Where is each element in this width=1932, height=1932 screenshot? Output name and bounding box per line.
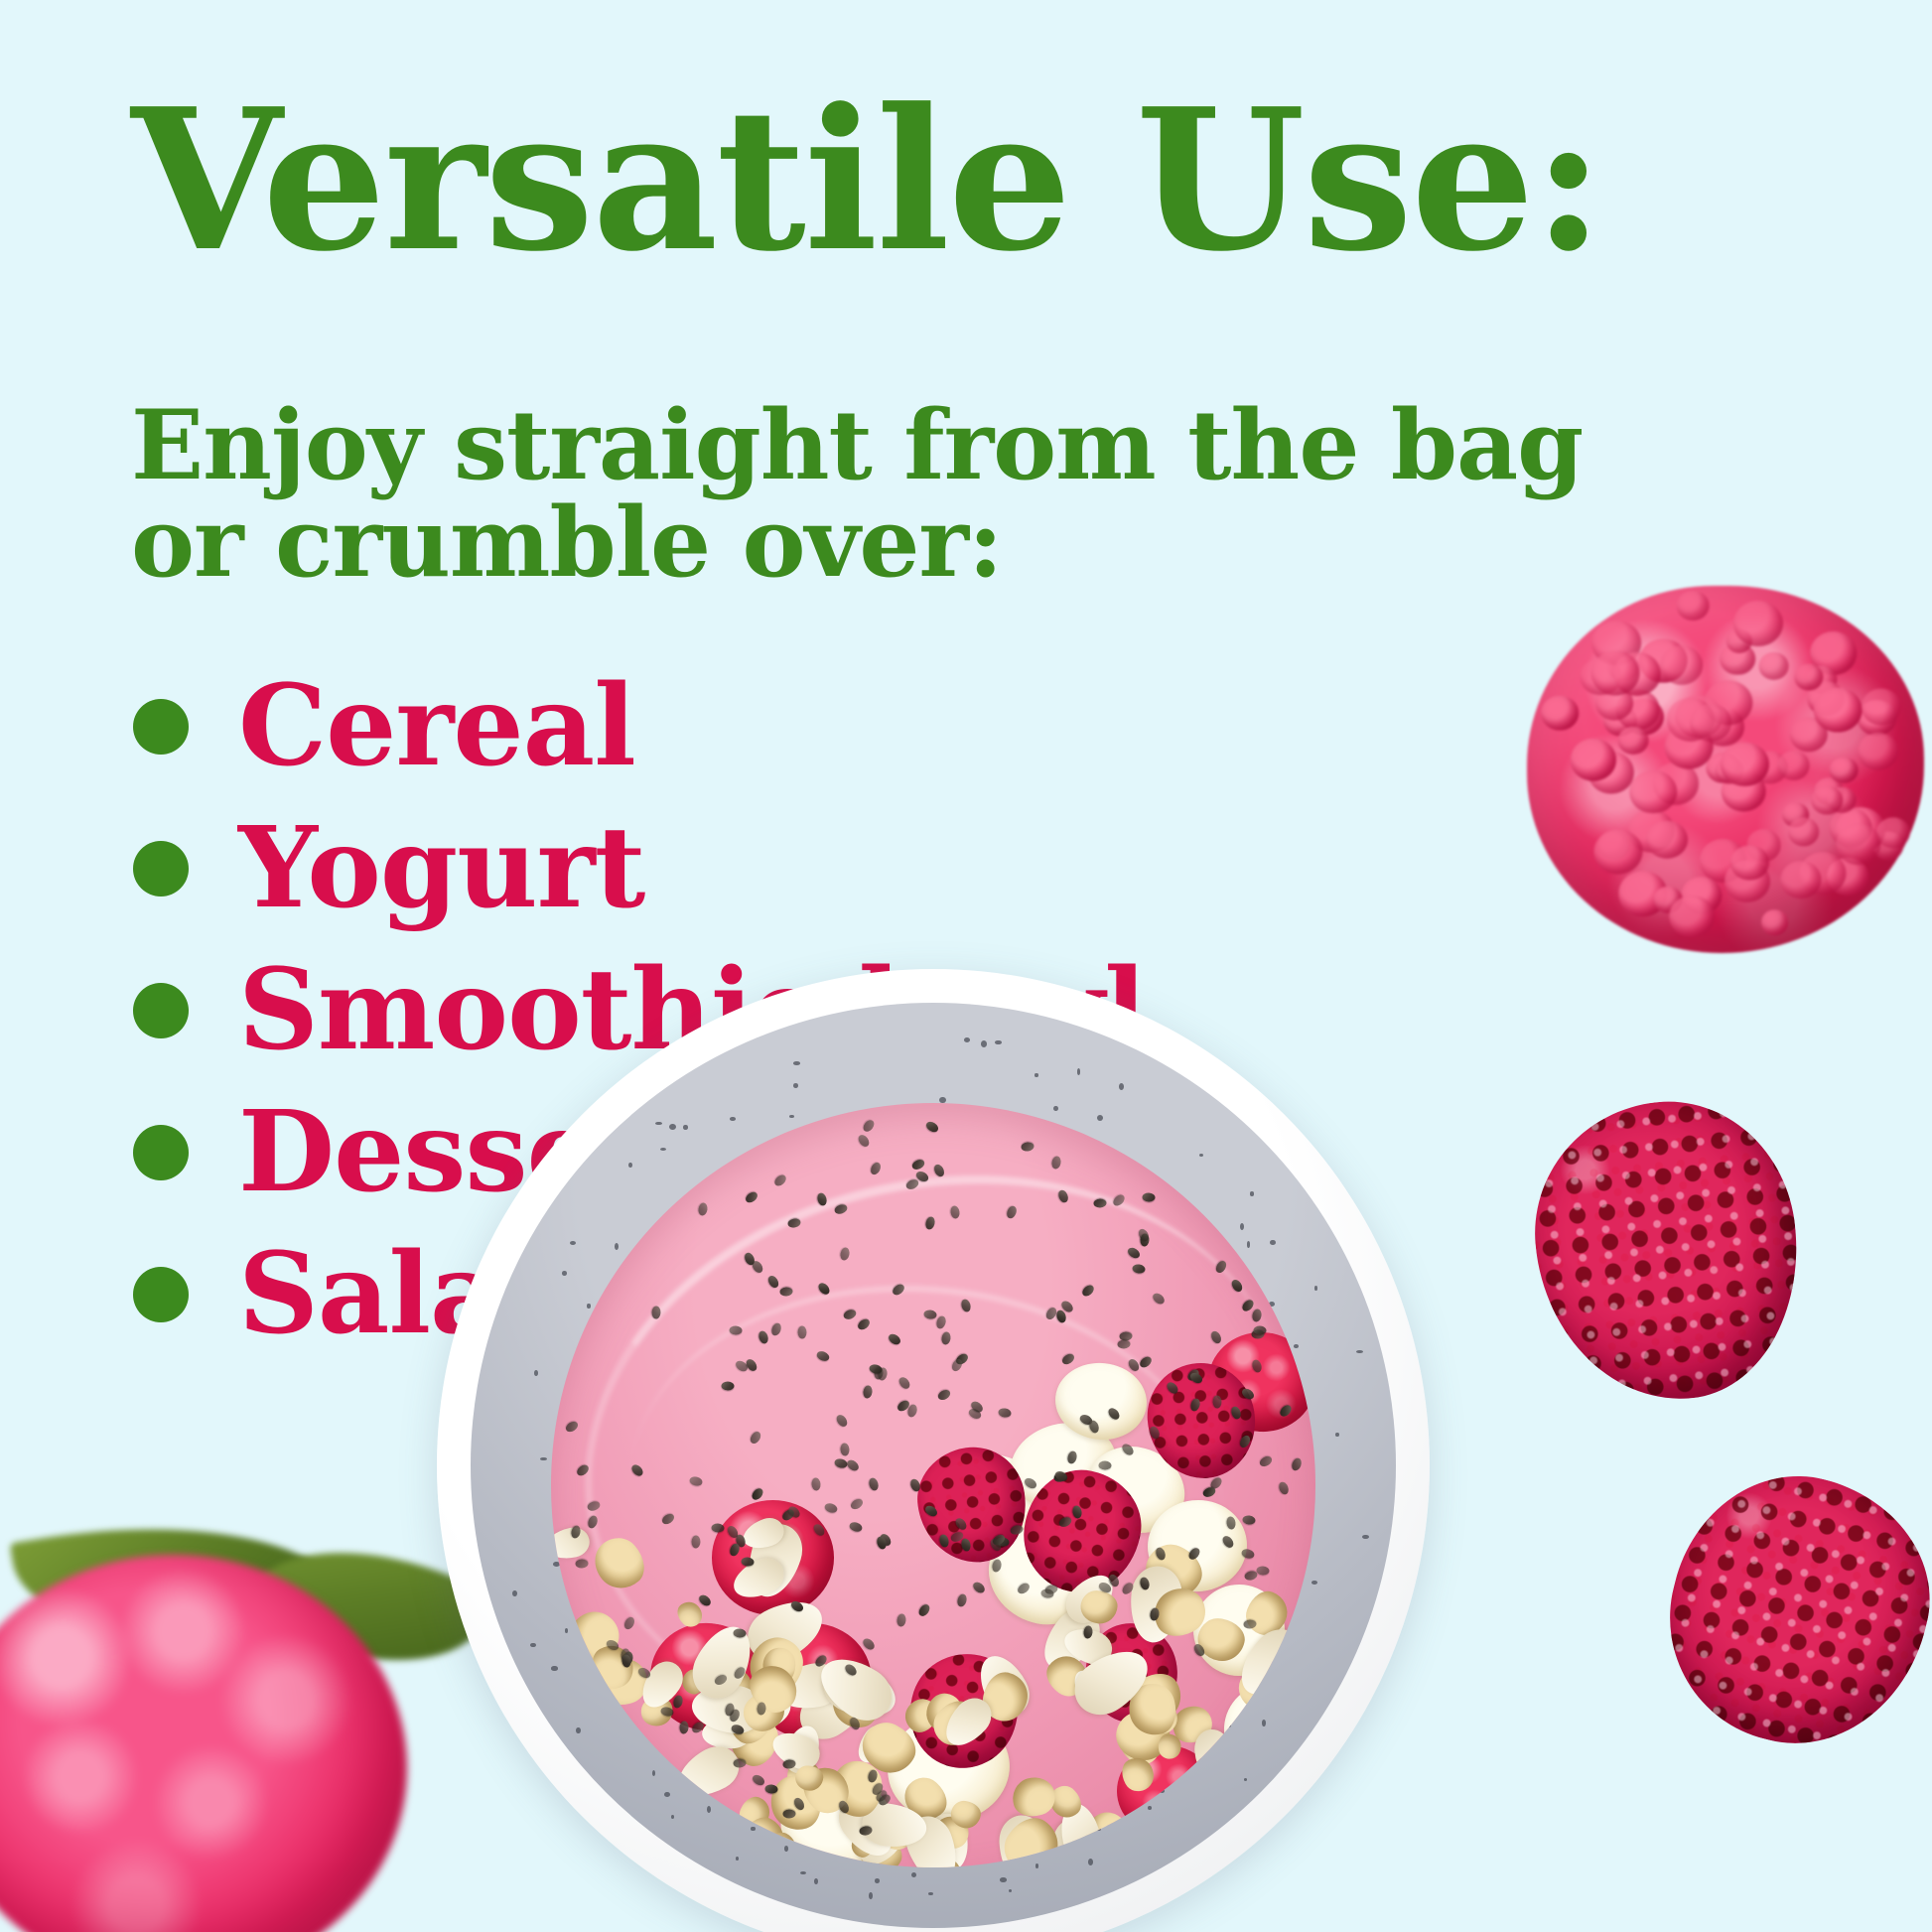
granola-cluster — [1007, 1772, 1059, 1822]
chia-seed — [1257, 1566, 1271, 1576]
chia-seed — [773, 1173, 789, 1187]
ceramic-speck — [652, 1770, 655, 1776]
ceramic-speck — [1009, 1889, 1013, 1893]
raspberry-druplet — [1777, 751, 1810, 780]
chia-seed — [869, 1161, 883, 1176]
raspberry-druplet — [1721, 743, 1768, 786]
chia-seed — [733, 1758, 747, 1768]
ceramic-speck — [1097, 1115, 1103, 1121]
chia-seed — [856, 1133, 871, 1149]
poster-canvas: Versatile Use: Enjoy straight from the b… — [0, 0, 1932, 1932]
chia-seed — [1142, 1192, 1155, 1202]
raspberry-druplet — [1618, 726, 1649, 754]
raspberry-druplet — [1836, 824, 1880, 866]
bullet-icon — [133, 1267, 189, 1322]
raspberry-druplet — [1660, 645, 1704, 685]
subtitle-line-1: Enjoy straight from the bag — [131, 389, 1583, 501]
ceramic-speck — [1244, 1778, 1247, 1781]
chia-seed — [1050, 1156, 1061, 1170]
ceramic-speck — [928, 1892, 932, 1895]
bullet-icon — [133, 699, 189, 755]
ceramic-speck — [576, 1727, 581, 1734]
chia-seed — [721, 1381, 734, 1390]
subtitle-line-2: or crumble over: — [131, 494, 1878, 592]
ceramic-speck — [1000, 1877, 1007, 1882]
bullet-icon — [133, 983, 189, 1038]
ceramic-speck — [615, 1243, 619, 1250]
chia-seed — [910, 1158, 926, 1172]
ceramic-speck — [628, 1163, 632, 1168]
raspberry-druplet — [1730, 846, 1768, 881]
ceramic-speck — [1247, 1241, 1251, 1248]
ceramic-speck — [671, 1815, 674, 1819]
chia-seed — [861, 1118, 876, 1134]
chia-seed — [697, 1202, 708, 1216]
ceramic-speck — [995, 1040, 1001, 1045]
ceramic-speck — [793, 1061, 800, 1065]
ceramic-speck — [1199, 1154, 1203, 1157]
list-item: Cereal — [131, 655, 1422, 797]
ceramic-speck — [1119, 1083, 1124, 1090]
chia-seed — [811, 1477, 821, 1491]
ceramic-speck — [1250, 1191, 1255, 1196]
raspberry-druplet — [1670, 896, 1716, 937]
chia-seed — [744, 1189, 759, 1204]
ceramic-speck — [1356, 1350, 1363, 1353]
freeze-dried-raspberry-right-lower-image — [1643, 1450, 1932, 1770]
fresh-raspberry-top-right-image — [1527, 586, 1924, 953]
raspberry-druplet — [1590, 651, 1639, 696]
ceramic-speck — [1077, 1068, 1081, 1075]
ceramic-speck — [736, 1857, 740, 1861]
ceramic-speck — [1311, 1581, 1316, 1585]
ceramic-speck — [1362, 1535, 1369, 1539]
bullet-icon — [133, 841, 189, 897]
list-item: Yogurt — [131, 797, 1422, 939]
ceramic-speck — [551, 1666, 557, 1670]
ceramic-speck — [1240, 1223, 1244, 1230]
chia-seed — [1278, 1481, 1291, 1496]
bullet-icon — [133, 1125, 189, 1180]
raspberry-druplet — [1593, 830, 1642, 875]
ceramic-speck — [869, 1892, 873, 1899]
chia-seed — [1253, 1325, 1266, 1334]
chia-seed — [1212, 1395, 1221, 1408]
raspberry-druplet — [1858, 733, 1899, 770]
chia-seed — [679, 1721, 689, 1734]
ceramic-speck — [1053, 1106, 1058, 1111]
ceramic-speck — [664, 1792, 670, 1797]
ceramic-speck — [570, 1241, 576, 1245]
smoothie-surface — [551, 1103, 1315, 1867]
ceramic-speck — [562, 1271, 567, 1276]
smoothie-bowl-image — [437, 969, 1430, 1932]
ceramic-speck — [1314, 1286, 1318, 1291]
raspberry-druplet — [1690, 704, 1731, 742]
ceramic-speck — [1335, 1433, 1339, 1437]
ceramic-speck — [655, 1122, 661, 1126]
subtitle: Enjoy straight from the bag or crumble o… — [131, 397, 1878, 592]
ceramic-speck — [964, 1037, 970, 1042]
ceramic-speck — [512, 1590, 517, 1596]
ceramic-speck — [534, 1370, 538, 1376]
raspberry-druplet — [1761, 909, 1789, 935]
ceramic-speck — [669, 1124, 676, 1130]
ceramic-speck — [683, 1125, 688, 1129]
raspberry-druplet — [1646, 820, 1688, 859]
chia-seed — [564, 1420, 580, 1435]
chia-seed — [1291, 1456, 1304, 1471]
page-title: Versatile Use: — [131, 91, 1602, 270]
chia-seed — [1098, 1460, 1111, 1469]
raspberry-druplet — [1788, 817, 1820, 846]
ceramic-speck — [530, 1643, 536, 1648]
list-item-label: Yogurt — [238, 813, 644, 924]
ceramic-speck — [800, 1871, 806, 1874]
chia-seed — [575, 1559, 588, 1569]
raspberry-druplet — [1541, 696, 1579, 731]
ceramic-speck — [875, 1878, 880, 1882]
raspberry-druplet — [1758, 652, 1789, 680]
ceramic-speck — [730, 1117, 736, 1121]
raspberry-druplet — [1830, 757, 1859, 783]
raspberry-druplet — [1677, 591, 1710, 621]
raspberry-druplet — [1813, 688, 1862, 733]
raspberry-druplet — [1733, 601, 1783, 646]
ceramic-speck — [814, 1878, 818, 1884]
ceramic-speck — [587, 1304, 591, 1308]
ceramic-speck — [789, 1115, 794, 1119]
list-item-label: Cereal — [238, 671, 635, 782]
raspberry-druplet — [1629, 770, 1677, 814]
ceramic-speck — [660, 1148, 666, 1151]
raspberry-druplet — [1876, 817, 1910, 848]
chia-seed — [751, 1772, 766, 1787]
raspberry-druplet — [1862, 689, 1901, 726]
chia-seed — [925, 1119, 941, 1134]
ceramic-speck — [981, 1040, 987, 1047]
ceramic-speck — [540, 1457, 547, 1461]
chia-seed — [1021, 1142, 1035, 1153]
ceramic-speck — [793, 1083, 798, 1088]
ceramic-speck — [1035, 1073, 1037, 1076]
ceramic-speck — [911, 1872, 916, 1877]
ceramic-speck — [1270, 1240, 1276, 1246]
raspberry-druplet — [1781, 861, 1822, 898]
freeze-dried-raspberry-right-upper-image — [1522, 1089, 1812, 1413]
chia-seed — [798, 1325, 807, 1338]
ceramic-speck — [707, 1806, 711, 1813]
